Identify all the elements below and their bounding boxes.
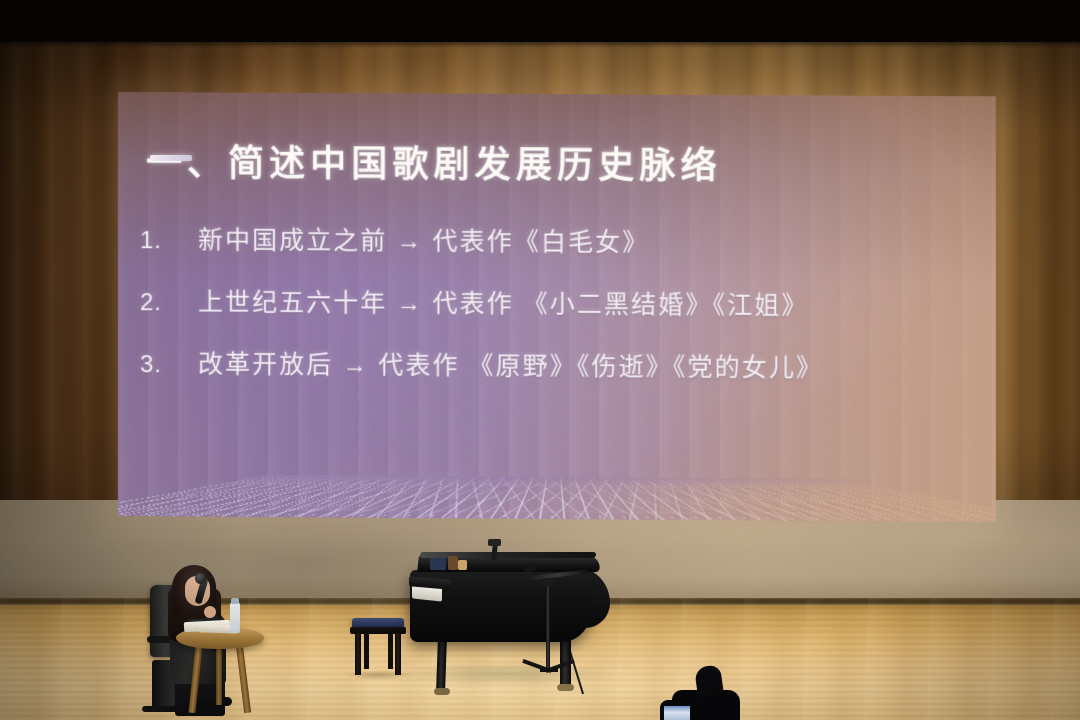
bullet-number: 1. (140, 227, 198, 255)
water-bottle (230, 602, 240, 633)
piano-top-item-tan (458, 560, 467, 570)
piano-top-item-brown (448, 556, 458, 570)
piano-lid-prop-top (488, 539, 501, 546)
slide-title: 一、简述中国歌剧发展历史脉络 (146, 134, 722, 189)
piano-caster (434, 688, 450, 695)
piano-caster (557, 684, 574, 691)
piano-bench-leg (355, 633, 361, 675)
water-bottle-cap (231, 598, 239, 604)
slide-bullet-list: 1. 新中国成立之前 → 代表作《白毛女》 2. 上世纪五六十年 → 代表作 《… (140, 220, 983, 412)
stage-photo: 一、简述中国歌剧发展历史脉络 1. 新中国成立之前 → 代表作《白毛女》 2. … (0, 0, 1080, 720)
table-leg-back (216, 645, 222, 705)
handheld-microphone-head (195, 573, 206, 584)
slide-content: 一、简述中国歌剧发展历史脉络 1. 新中国成立之前 → 代表作《白毛女》 2. … (118, 92, 996, 522)
bullet-number: 3. (140, 351, 198, 379)
mic-stand-pole (546, 583, 550, 671)
bullet-text: 新中国成立之前 → 代表作《白毛女》 (198, 220, 649, 259)
piano-top-item-blue (430, 558, 446, 570)
slide-bullet-item: 2. 上世纪五六十年 → 代表作 《小二黑结婚》《江姐》 (140, 282, 983, 323)
top-mask (0, 0, 1080, 42)
slide-bullet-item: 3. 改革开放后 → 代表作 《原野》《伤逝》《党的女儿》 (140, 344, 983, 385)
mic-stand-leg (540, 668, 558, 672)
light-sliver (150, 155, 192, 161)
mic-stand-clamp (543, 578, 553, 586)
camera-monitor-screen (662, 704, 692, 720)
speaker-hand (204, 606, 216, 618)
bullet-text: 上世纪五六十年 → 代表作 《小二黑结婚》《江姐》 (198, 282, 809, 322)
bullet-number: 2. (140, 289, 198, 317)
piano-bench-leg (388, 633, 393, 669)
piano-bench-leg (364, 633, 369, 669)
projected-slide: 一、简述中国歌剧发展历史脉络 1. 新中国成立之前 → 代表作《白毛女》 2. … (118, 92, 996, 522)
slide-bullet-item: 1. 新中国成立之前 → 代表作《白毛女》 (140, 220, 983, 261)
bullet-text: 改革开放后 → 代表作 《原野》《伤逝》《党的女儿》 (198, 345, 823, 385)
piano-lid-edge (420, 552, 597, 558)
piano-leg-front (436, 640, 447, 690)
